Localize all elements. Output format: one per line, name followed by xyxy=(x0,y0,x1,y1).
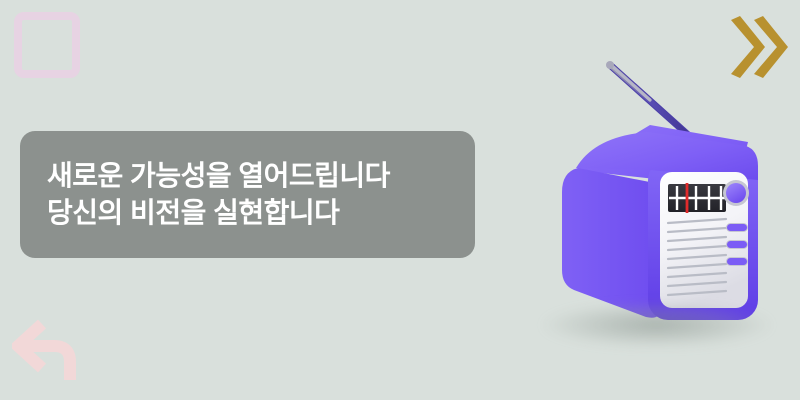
reply-arrow-icon xyxy=(12,316,94,390)
radio-left-face xyxy=(562,168,660,318)
radio-tuning-knob xyxy=(723,180,749,206)
retro-radio-illustration xyxy=(500,20,800,360)
poster-canvas: 새로운 가능성을 열어드립니다 당신의 비전을 실현합니다 xyxy=(0,0,800,400)
radio-drop-shadow xyxy=(542,302,772,348)
rounded-square-outline-icon xyxy=(14,12,80,78)
headline-line-1: 새로운 가능성을 열어드립니다 xyxy=(47,158,475,195)
headline-line-2: 당신의 비전을 실현합니다 xyxy=(47,195,475,232)
headline-plate: 새로운 가능성을 열어드립니다 당신의 비전을 실현합니다 xyxy=(20,131,475,258)
radio-side-buttons xyxy=(726,223,748,266)
radio-tuning-dial xyxy=(668,183,726,213)
